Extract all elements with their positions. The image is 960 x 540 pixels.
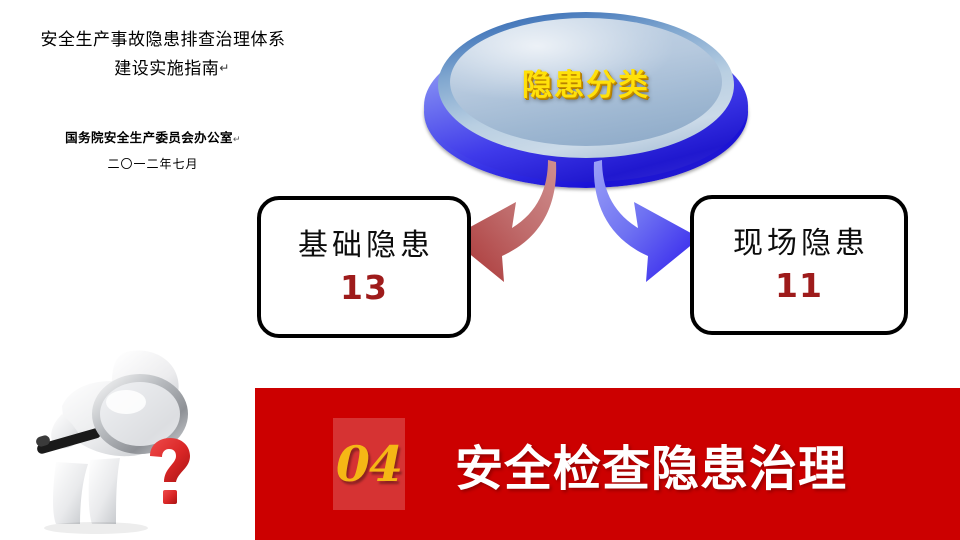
question-mark-dot-icon [163, 490, 177, 504]
figure-leg-left [53, 462, 88, 524]
section-title: 安全检查隐患治理 [455, 420, 847, 508]
section-number: 04 [336, 440, 402, 489]
category-count: 13 [340, 271, 388, 304]
slide-canvas: 安全生产事故隐患排查治理体系 建设实施指南↵ 国务院安全生产委员会办公室↵ 二〇… [0, 0, 960, 540]
category-name: 现场隐患 [729, 229, 869, 259]
category-count: 11 [775, 269, 823, 302]
question-mark-icon [150, 438, 190, 482]
magnifier-lens [100, 382, 180, 446]
arrows-svg [430, 160, 720, 305]
document-title-line-1: 安全生产事故隐患排查治理体系 [8, 26, 318, 54]
document-date: 二〇一二年七月 [8, 155, 298, 172]
arrow-group [430, 160, 720, 305]
document-title-line-2: 建设实施指南↵ [8, 54, 318, 83]
document-issuer: 国务院安全生产委员会办公室↵ [8, 127, 298, 146]
magnifier-glare [106, 390, 146, 414]
magnifier-person-illustration [18, 332, 238, 540]
document-header: 安全生产事故隐患排查治理体系 建设实施指南↵ [8, 26, 318, 83]
arrow-to-onsite-hazard [594, 160, 700, 282]
section-number-chip: 04 [333, 418, 405, 510]
document-issuer-text: 国务院安全生产委员会办公室 [65, 130, 233, 145]
issuer-paragraph-mark-icon: ↵ [233, 135, 241, 145]
category-box-basic-hazard[interactable]: 基础隐患 13 [257, 196, 471, 338]
figure-leg-right [89, 458, 120, 524]
category-name: 基础隐患 [294, 231, 434, 261]
disc-label: 隐患分类 [450, 18, 722, 146]
section-banner: 04 安全检查隐患治理 [255, 388, 960, 540]
category-box-onsite-hazard[interactable]: 现场隐患 11 [690, 195, 908, 335]
document-title-line-2-text: 建设实施指南 [114, 59, 219, 79]
figure-shadow [44, 522, 148, 534]
paragraph-mark-icon: ↵ [219, 61, 230, 75]
magnifier-person-svg [18, 332, 238, 540]
